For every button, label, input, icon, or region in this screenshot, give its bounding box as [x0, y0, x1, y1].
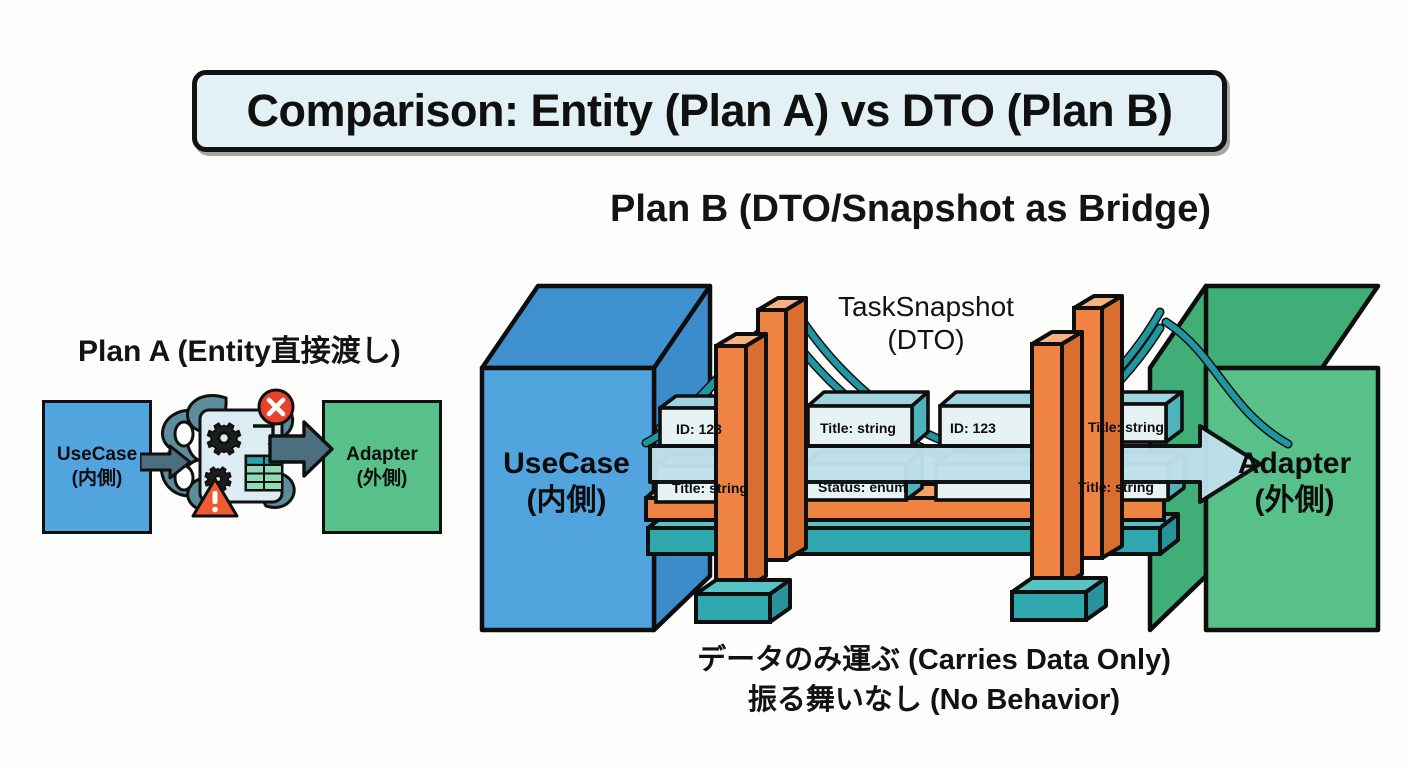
plan-a-adapter-sub: (外側) — [357, 467, 408, 491]
plan-a-usecase-name: UseCase — [57, 443, 137, 467]
plan-a-adapter-name: Adapter — [346, 443, 418, 467]
caption-line-2: 振る舞いなし (No Behavior) — [604, 680, 1264, 720]
bridge-caption: データのみ運ぶ (Carries Data Only) 振る舞いなし (No B… — [604, 640, 1264, 720]
plan-a-adapter-box: Adapter (外側) — [322, 400, 442, 534]
plan-a-usecase-box: UseCase (内側) — [42, 400, 152, 534]
plan-b-heading: Plan B (DTO/Snapshot as Bridge) — [610, 188, 1211, 231]
dto-label: TaskSnapshot (DTO) — [826, 290, 1026, 356]
page-title: Comparison: Entity (Plan A) vs DTO (Plan… — [246, 85, 1172, 137]
plan-a-right-arrow-icon — [268, 414, 336, 484]
dto-label-line2: (DTO) — [826, 323, 1026, 356]
plan-a-heading: Plan A (Entity直接渡し) — [78, 326, 401, 370]
dto-label-line1: TaskSnapshot — [826, 290, 1026, 323]
caption-line-1: データのみ運ぶ (Carries Data Only) — [604, 640, 1264, 680]
field-chip — [808, 392, 928, 446]
title-banner: Comparison: Entity (Plan A) vs DTO (Plan… — [192, 70, 1227, 152]
plan-a-usecase-sub: (内側) — [72, 467, 123, 491]
plan-a-left-arrow-icon — [140, 442, 192, 488]
diagram-canvas: Comparison: Entity (Plan A) vs DTO (Plan… — [0, 0, 1408, 768]
